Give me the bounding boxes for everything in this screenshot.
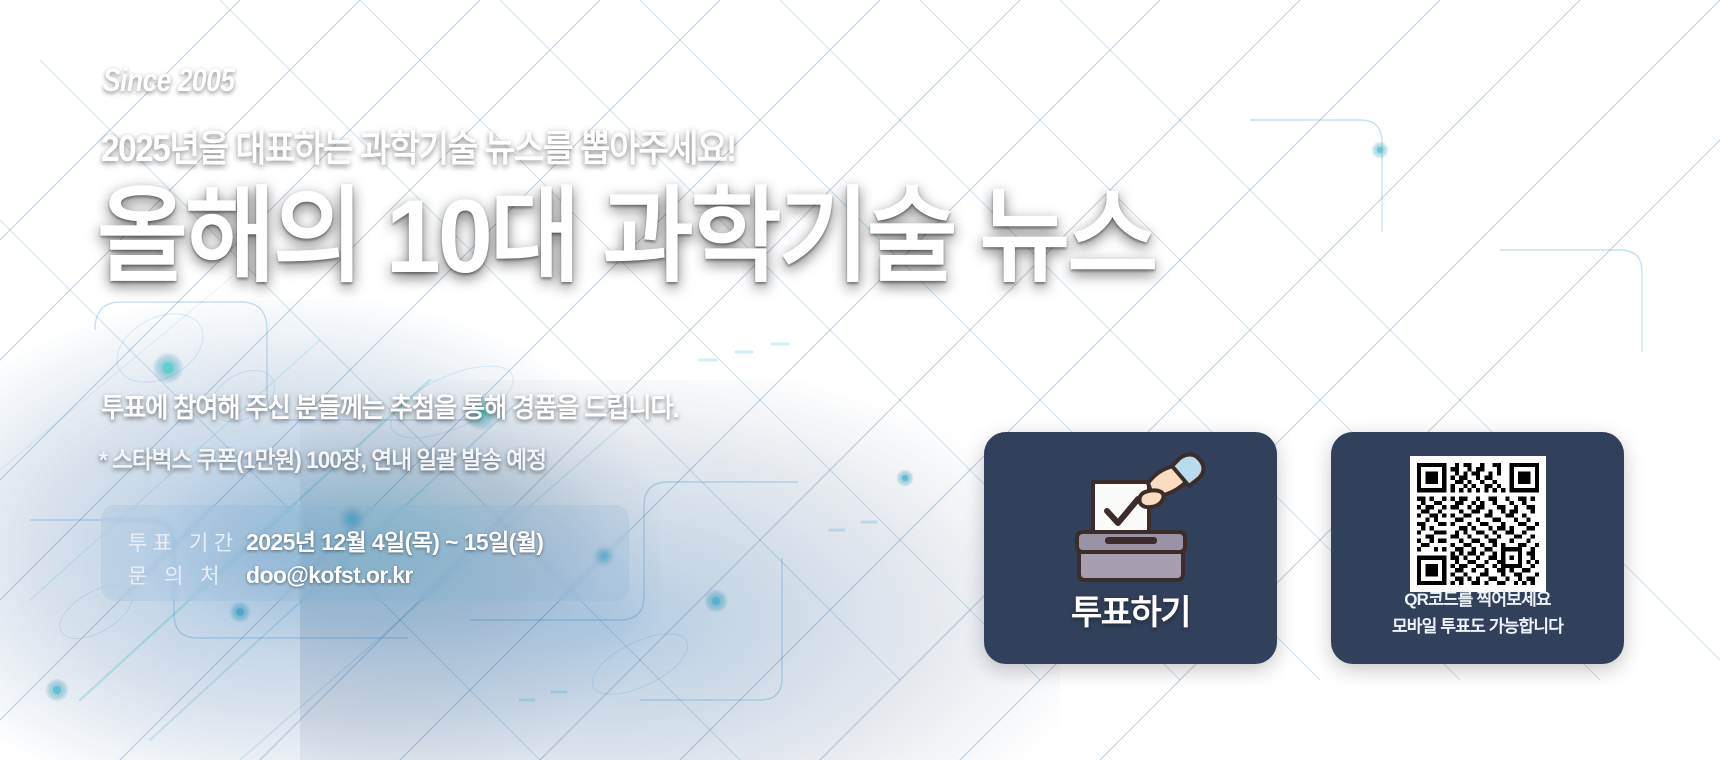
info-row-voting-period: 투표 기간 2025년 12월 4일(목) ~ 15일(월) xyxy=(128,523,543,557)
event-info-panel: 투표 기간 2025년 12월 4일(목) ~ 15일(월) 문 의 처 doo… xyxy=(101,505,629,601)
contact-email-value[interactable]: doo@kofst.or.kr xyxy=(246,562,413,589)
ballot-box-icon xyxy=(984,448,1277,582)
promo-banner: Since 2005 2025년을 대표하는 과학기술 뉴스를 뽑아주세요! 올… xyxy=(0,0,1720,760)
qr-caption-line-2: 모바일 투표도 가능합니다 xyxy=(1331,614,1624,640)
voting-period-label: 투표 기간 xyxy=(128,527,246,557)
qr-code-icon xyxy=(1331,456,1624,592)
qr-caption-line-1: QR코드를 찍어보세요 xyxy=(1331,587,1624,613)
contact-label: 문 의 처 xyxy=(128,560,246,590)
prize-notice: 투표에 참여해 주신 분들께는 추첨을 통해 경품을 드립니다. xyxy=(101,386,679,425)
page-title: 올해의 10대 과학기술 뉴스 xyxy=(97,183,1155,292)
qr-code-card[interactable]: QR코드를 찍어보세요 모바일 투표도 가능합니다 xyxy=(1331,432,1624,664)
qr-card-caption: QR코드를 찍어보세요 모바일 투표도 가능합니다 xyxy=(1331,587,1624,640)
prize-detail-note: * 스타벅스 쿠폰(1만원) 100장, 연내 일괄 발송 예정 xyxy=(99,440,546,475)
vote-button-card[interactable]: 투표하기 xyxy=(984,432,1277,664)
voting-period-value: 2025년 12월 4일(목) ~ 15일(월) xyxy=(246,523,543,557)
eyebrow-text: Since 2005 xyxy=(103,62,235,99)
info-row-contact: 문 의 처 doo@kofst.or.kr xyxy=(128,560,413,590)
subheadline: 2025년을 대표하는 과학기술 뉴스를 뽑아주세요! xyxy=(101,118,736,172)
vote-button-label: 투표하기 xyxy=(984,585,1277,634)
